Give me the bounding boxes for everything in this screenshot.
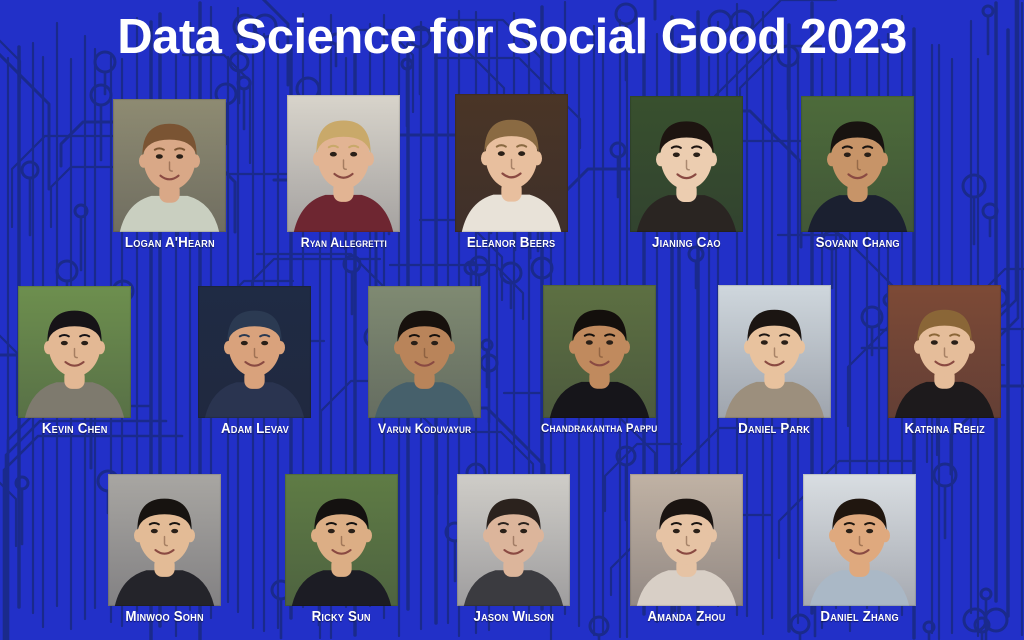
portrait-illustration (803, 474, 916, 606)
person-name: Adam Levav (221, 422, 289, 437)
portrait-illustration (287, 95, 400, 232)
portrait-illustration (285, 474, 398, 606)
portrait-illustration (801, 96, 914, 232)
person-name: Daniel Zhang (820, 610, 898, 625)
portrait-photo (285, 474, 398, 606)
portrait-photo (888, 285, 1001, 418)
person-card[interactable]: Chandrakantha Pappu (543, 285, 656, 434)
portrait-illustration (455, 94, 568, 232)
page-title: Data Science for Social Good 2023 (117, 12, 907, 63)
portrait-photo (630, 474, 743, 606)
person-card[interactable]: Jason Wilson (457, 474, 570, 625)
person-name: Daniel Park (739, 422, 811, 437)
person-name: Sovann Chang (815, 236, 899, 251)
portrait-photo (801, 96, 914, 232)
portrait-illustration (630, 474, 743, 606)
person-name: Logan A'Hearn (125, 236, 215, 251)
portrait-photo (108, 474, 221, 606)
person-name: Katrina Rbeiz (904, 422, 984, 437)
portrait-illustration (543, 285, 656, 418)
person-name: Ricky Sun (312, 610, 371, 625)
portrait-photo (368, 286, 481, 418)
portrait-illustration (457, 474, 570, 606)
portrait-photo (455, 94, 568, 232)
person-card[interactable]: Minwoo Sohn (108, 474, 221, 625)
portrait-illustration (108, 474, 221, 606)
portrait-illustration (630, 96, 743, 232)
person-name: Minwoo Sohn (125, 610, 203, 625)
portrait-photo (803, 474, 916, 606)
portrait-photo (18, 286, 131, 418)
portrait-photo (543, 285, 656, 418)
person-card[interactable]: Ryan Allegretti (287, 95, 400, 249)
person-name: Jason Wilson (473, 610, 554, 625)
person-name: Chandrakantha Pappu (541, 422, 657, 434)
person-name: Eleanor Beers (467, 236, 556, 251)
person-name: Kevin Chen (42, 422, 108, 437)
person-card[interactable]: Sovann Chang (801, 96, 914, 251)
person-card[interactable]: Daniel Zhang (803, 474, 916, 625)
portrait-illustration (718, 285, 831, 418)
title-bar: Data Science for Social Good 2023 (0, 12, 1024, 63)
portrait-photo (113, 99, 226, 232)
people-grid: Logan A'HearnRyan AllegrettiEleanor Beer… (0, 0, 1024, 640)
person-card[interactable]: Amanda Zhou (630, 474, 743, 625)
portrait-illustration (113, 99, 226, 232)
person-card[interactable]: Varun Koduvayur (368, 286, 481, 435)
portrait-photo (457, 474, 570, 606)
person-name: Jianing Cao (652, 236, 721, 251)
person-name: Amanda Zhou (647, 610, 725, 625)
portrait-illustration (368, 286, 481, 418)
person-card[interactable]: Adam Levav (198, 286, 311, 437)
portrait-photo (287, 95, 400, 232)
person-card[interactable]: Jianing Cao (630, 96, 743, 251)
poster-canvas: Data Science for Social Good 2023 Logan … (0, 0, 1024, 640)
portrait-illustration (888, 285, 1001, 418)
portrait-photo (198, 286, 311, 418)
portrait-photo (718, 285, 831, 418)
person-card[interactable]: Ricky Sun (285, 474, 398, 625)
person-card[interactable]: Kevin Chen (18, 286, 131, 437)
person-name: Ryan Allegretti (300, 236, 386, 249)
portrait-illustration (198, 286, 311, 418)
person-card[interactable]: Eleanor Beers (455, 94, 568, 251)
person-name: Varun Koduvayur (378, 422, 471, 435)
person-card[interactable]: Katrina Rbeiz (888, 285, 1001, 437)
portrait-illustration (18, 286, 131, 418)
person-card[interactable]: Daniel Park (718, 285, 831, 437)
person-card[interactable]: Logan A'Hearn (113, 99, 226, 251)
portrait-photo (630, 96, 743, 232)
